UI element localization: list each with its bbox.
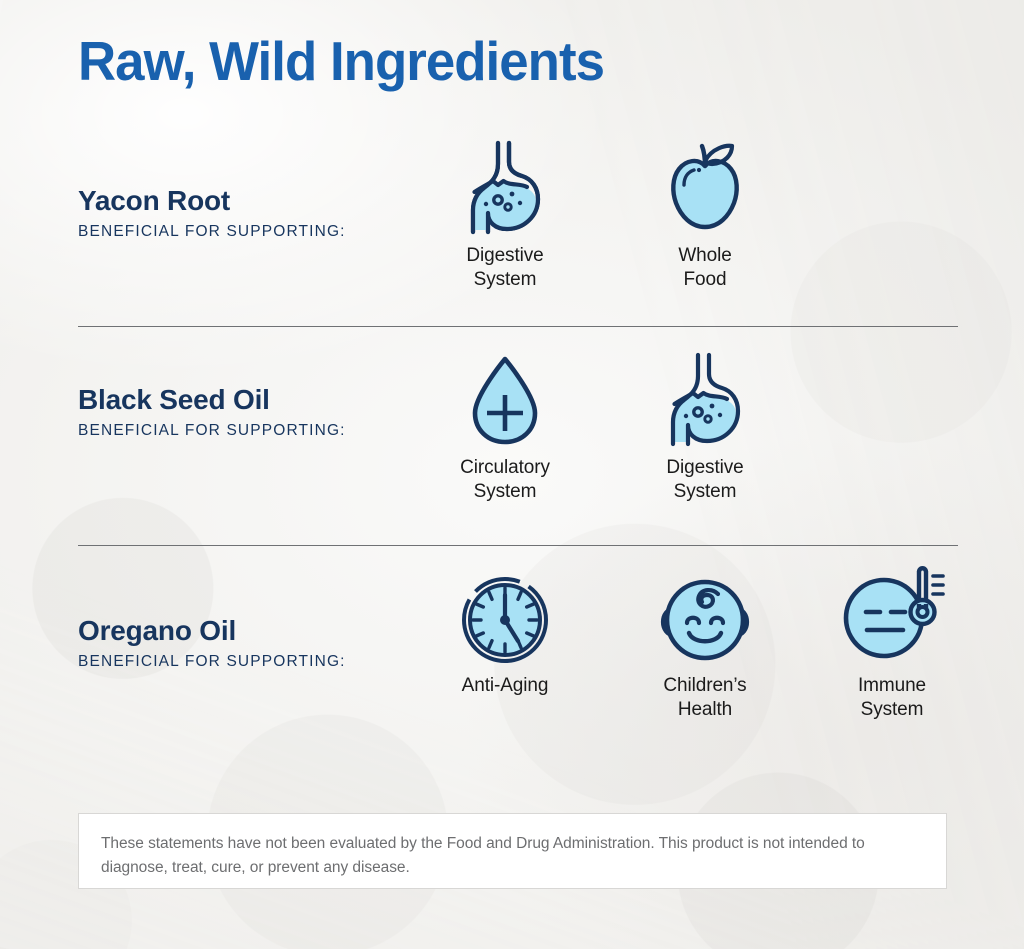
benefit-item: Children’s Health [630, 570, 780, 723]
ingredient-row: Yacon Root BENEFICIAL FOR SUPPORTING: [0, 140, 1024, 340]
stomach-icon [430, 140, 580, 236]
benefit-item: Immune System [817, 570, 967, 723]
infographic-page: Raw, Wild Ingredients Yacon Root BENEFIC… [0, 0, 1024, 949]
benefit-label-line1: Digestive [430, 244, 580, 268]
ingredient-row: Black Seed Oil BENEFICIAL FOR SUPPORTING… [0, 352, 1024, 552]
benefit-label-line2: System [430, 268, 580, 292]
sick-face-thermometer-icon [817, 570, 967, 666]
droplet-plus-icon [430, 352, 580, 448]
disclaimer-box: These statements have not been evaluated… [78, 813, 947, 889]
benefit-label-line1: Circulatory [430, 456, 580, 480]
row-divider [78, 326, 958, 327]
benefit-item: Digestive System [630, 352, 780, 505]
benefit-item: Anti-Aging [430, 570, 580, 698]
baby-face-icon [630, 570, 780, 666]
disclaimer-text: These statements have not been evaluated… [101, 832, 924, 879]
benefit-label-line1: Children’s [630, 674, 780, 698]
beneficial-label: BENEFICIAL FOR SUPPORTING: [78, 223, 438, 242]
beneficial-label: BENEFICIAL FOR SUPPORTING: [78, 422, 438, 441]
benefit-label-line1: Whole [630, 244, 780, 268]
benefit-label-line2: System [430, 480, 580, 504]
benefit-label-line2: Health [630, 698, 780, 722]
benefit-icon-group: Circulatory System [430, 352, 990, 552]
benefit-label-line1: Anti-Aging [430, 674, 580, 698]
row-divider [78, 545, 958, 546]
beneficial-label: BENEFICIAL FOR SUPPORTING: [78, 653, 438, 672]
benefit-item: Whole Food [630, 140, 780, 293]
apple-icon [630, 140, 780, 236]
benefit-label: Circulatory System [430, 456, 580, 505]
benefit-label: Children’s Health [630, 674, 780, 723]
ingredient-heading-group: Yacon Root BENEFICIAL FOR SUPPORTING: [78, 185, 438, 242]
ingredient-heading-group: Black Seed Oil BENEFICIAL FOR SUPPORTING… [78, 384, 438, 441]
benefit-icon-group: Anti-Aging [430, 570, 990, 770]
benefit-icon-group: Digestive System [430, 140, 990, 340]
ingredient-name: Yacon Root [78, 185, 438, 217]
benefit-label-line2: Food [630, 268, 780, 292]
page-title: Raw, Wild Ingredients [78, 33, 604, 91]
benefit-label: Digestive System [430, 244, 580, 293]
benefit-item: Circulatory System [430, 352, 580, 505]
ingredient-heading-group: Oregano Oil BENEFICIAL FOR SUPPORTING: [78, 615, 438, 672]
benefit-label-line1: Digestive [630, 456, 780, 480]
benefit-label-line2: System [630, 480, 780, 504]
benefit-label: Digestive System [630, 456, 780, 505]
benefit-label: Whole Food [630, 244, 780, 293]
benefit-label-line2: System [817, 698, 967, 722]
benefit-label: Anti-Aging [430, 674, 580, 698]
benefit-item: Digestive System [430, 140, 580, 293]
stomach-icon [630, 352, 780, 448]
ingredient-name: Black Seed Oil [78, 384, 438, 416]
benefit-label: Immune System [817, 674, 967, 723]
ingredient-row: Oregano Oil BENEFICIAL FOR SUPPORTING: [0, 570, 1024, 770]
ingredient-name: Oregano Oil [78, 615, 438, 647]
clock-icon [430, 570, 580, 666]
benefit-label-line1: Immune [817, 674, 967, 698]
